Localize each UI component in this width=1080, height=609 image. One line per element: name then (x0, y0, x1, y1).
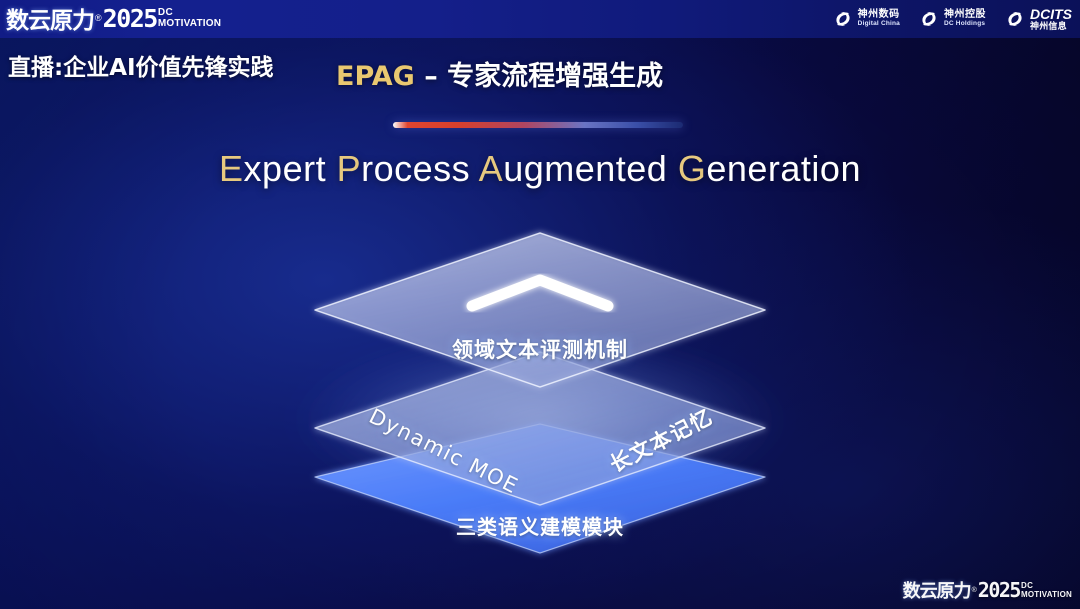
page-title-cap-p: P (337, 148, 362, 189)
brand-logo-year: 2025 (103, 4, 157, 33)
partner-logo-group: 神州数码 Digital China 神州控股 DC Holdings (832, 4, 1072, 34)
page-title-rest-augmented: ugmented (503, 148, 667, 189)
partner-logo-digital-china: 神州数码 Digital China (832, 8, 900, 30)
brand-logo-dc-block: DC MOTIVATION (158, 8, 221, 29)
partner-name-en: 神州信息 (1030, 22, 1072, 31)
slide-title-cn: 专家流程增强生成 (447, 61, 663, 92)
spiral-logo-icon (918, 8, 940, 30)
page-title-rest-process: rocess (361, 148, 470, 189)
partner-logo-dc-holdings: 神州控股 DC Holdings (918, 8, 986, 30)
watermark-cn: 数云原力 (903, 577, 971, 603)
partner-logo-text: 神州控股 DC Holdings (944, 10, 986, 27)
watermark-year: 2025 (978, 578, 1020, 602)
spiral-logo-icon (832, 8, 854, 30)
slide-title: EPAG – 专家流程增强生成 (336, 54, 663, 93)
brand-logo-cn: 数云原力 (6, 1, 94, 35)
brand-logo-motivation: MOTIVATION (158, 19, 221, 29)
spiral-logo-icon (1004, 8, 1026, 30)
partner-logo-text: 神州数码 Digital China (858, 10, 900, 27)
slide-title-acronym: EPAG (336, 61, 415, 92)
slide-title-separator: – (415, 61, 447, 92)
partner-logo-dcits: DCITS 神州信息 (1004, 7, 1072, 31)
partner-name-en: DC Holdings (944, 21, 986, 28)
partner-logo-text: DCITS 神州信息 (1030, 7, 1072, 31)
live-stream-title: 直播:企业AI价值先锋实践 (8, 48, 274, 82)
brand-logo: 数云原力 ® 2025 DC MOTIVATION (6, 2, 221, 34)
slide-canvas: 数云原力 ® 2025 DC MOTIVATION 神州数码 Digital C… (0, 0, 1080, 609)
brand-logo-dc: DC (158, 8, 221, 18)
watermark-registered: ® (972, 587, 977, 594)
partner-name-cn: DCITS (1030, 7, 1072, 22)
watermark-motivation: MOTIVATION (1021, 591, 1072, 599)
page-title-rest-expert: xpert (244, 148, 327, 189)
page-title-rest-generation: eneration (706, 148, 861, 189)
brand-logo-registered: ® (95, 13, 102, 23)
header-bar: 数云原力 ® 2025 DC MOTIVATION 神州数码 Digital C… (0, 0, 1080, 38)
footer-watermark-logo: 数云原力 ® 2025 DC MOTIVATION (903, 577, 1072, 603)
title-divider-rule (393, 122, 683, 128)
page-title-cap-a: A (479, 148, 504, 189)
partner-name-en: Digital China (858, 21, 900, 28)
page-title-cap-g: G (678, 148, 707, 189)
page-title-cap-e: E (219, 148, 244, 189)
watermark-dc: DC (1021, 582, 1072, 590)
watermark-dc-block: DC MOTIVATION (1021, 582, 1072, 599)
page-title: Expert Process Augmented Generation (0, 148, 1080, 190)
